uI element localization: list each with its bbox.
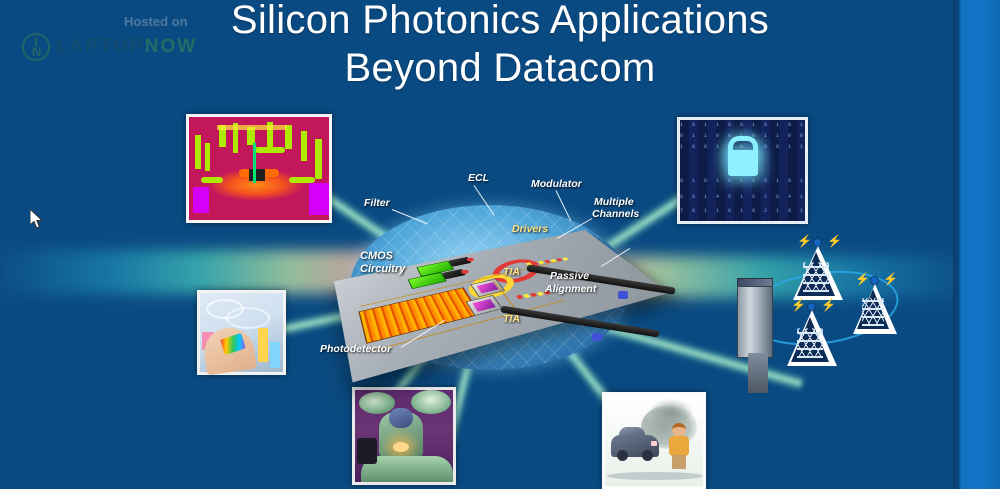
person-legs: [672, 455, 686, 469]
binary-row: 0 1 0 1 0 1 1 0 1 0 1 1: [680, 178, 805, 187]
label-filter: Filter: [364, 197, 390, 209]
logo-letter: N: [32, 44, 41, 59]
binary-row: 1 0 1 1 0 0 1 0 1 0 1 1: [680, 122, 805, 131]
pollution-cartoon: [605, 395, 703, 486]
label-photodetector: Photodetector: [320, 343, 391, 355]
binary-row: 7 0 1 1 0 1 0 2 1 0 1 1: [680, 208, 805, 217]
binary-row: 6 0 1 4 5 1 0 2 6 4 1 1: [680, 194, 805, 203]
operating-room-image: [355, 390, 453, 482]
label-tia-1: TIA: [503, 266, 520, 278]
emissions-sensing-thumbnail: [602, 392, 706, 489]
presentation-slide: Silicon Photonics Applications Beyond Da…: [0, 0, 1000, 489]
slide-right-band[interactable]: [959, 0, 1000, 489]
cell-towers-thumbnail: ⚡ ⚡ ⚡ ⚡ ⚡ ⚡: [735, 232, 910, 380]
label-drivers: Drivers: [512, 223, 548, 235]
surgical-lamp-icon: [411, 390, 451, 414]
fiber-connector: [618, 291, 628, 299]
fiber-connector: [592, 333, 602, 341]
car-icon: [611, 435, 659, 457]
watermark-brand: LAPTOPNOW: [56, 36, 197, 58]
label-channels: Channels: [592, 208, 639, 220]
server-rack-icon: [737, 286, 773, 358]
lidar-image: [189, 117, 329, 220]
chip-on-fingertip-thumbnail: [197, 290, 286, 375]
label-passive: Passive: [550, 270, 589, 282]
procedure-glow: [393, 442, 409, 452]
pedestrian-icon: [669, 423, 689, 469]
title-line-1: Silicon Photonics Applications: [231, 0, 769, 42]
surgical-lamp-icon: [359, 392, 395, 414]
label-alignment: Alignment: [545, 283, 596, 295]
surgery-thumbnail: [352, 387, 456, 485]
cmos-circuitry-label: CMOS Circuitry: [360, 250, 405, 276]
watermark: Hosted on N LAPTOPNOW: [14, 14, 234, 60]
person-body: [669, 436, 689, 456]
padlock-body-icon: [728, 150, 758, 176]
mouse-cursor: [30, 209, 44, 229]
brand-suffix: NOW: [145, 36, 197, 57]
label-tia-2: TIA: [503, 313, 520, 325]
lidar-point-cloud-thumbnail: [186, 114, 332, 223]
binary-background: 1 0 1 1 0 0 1 0 1 0 1 1 0 1 1 0 0 1 0 1 …: [680, 120, 805, 221]
filter-block: [408, 272, 447, 289]
surgeon-head: [389, 408, 413, 428]
watermark-hosted-label: Hosted on: [124, 14, 188, 29]
person-head: [672, 423, 686, 437]
laptopnow-logo-icon: N: [22, 33, 50, 61]
label-modulator: Modulator: [531, 178, 582, 190]
fingertip-image: [200, 293, 283, 372]
server-panel: [748, 353, 768, 393]
brand-prefix: LAPTOP: [56, 36, 145, 57]
ground-shadow: [607, 472, 703, 480]
data-security-lock-thumbnail: 1 0 1 1 0 0 1 0 1 0 1 1 0 1 1 0 0 1 0 1 …: [677, 117, 808, 224]
label-multiple: Multiple: [594, 196, 634, 208]
label-ecl: ECL: [468, 172, 489, 184]
